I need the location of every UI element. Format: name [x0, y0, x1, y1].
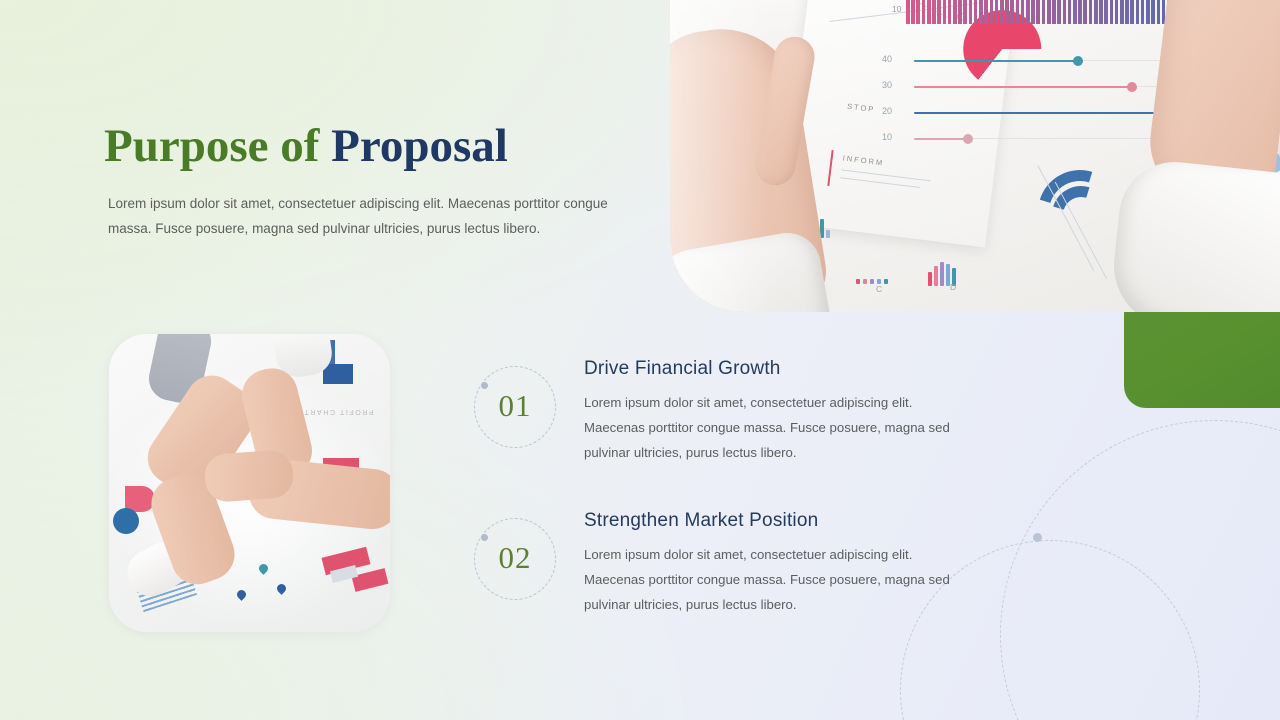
- blue-block-graphic-2: [323, 364, 353, 384]
- item-body: Lorem ipsum dolor sit amet, consectetuer…: [584, 390, 956, 465]
- decorative-dot: [1033, 533, 1042, 542]
- analytics-photo: STOP INFORM 60 50 40 30 10 40302010 B C …: [670, 0, 1280, 312]
- intro-paragraph: Lorem ipsum dolor sit amet, consectetuer…: [108, 192, 608, 241]
- lollipop-tick: 10: [882, 132, 892, 142]
- hands-center-cluster: [203, 449, 294, 503]
- team-photo: PROFIT CHART: [109, 334, 390, 632]
- lollipop-tick: 30: [882, 80, 892, 90]
- paper-label-stop: STOP: [847, 102, 876, 114]
- profit-chart-label: PROFIT CHART: [303, 408, 374, 415]
- item-body: Lorem ipsum dolor sit amet, consectetuer…: [584, 542, 956, 617]
- item-heading: Strengthen Market Position: [584, 510, 818, 532]
- item-number: 01: [474, 366, 556, 448]
- number-badge: 01: [474, 366, 556, 448]
- lollipop-tick: 40: [882, 54, 892, 64]
- item-number: 02: [474, 518, 556, 600]
- page-title-navy: Proposal: [331, 120, 508, 172]
- paper-label-inform: INFORM: [842, 153, 884, 167]
- lollipop-tick: 20: [882, 106, 892, 116]
- number-badge: 02: [474, 518, 556, 600]
- sleeve-cuff-right: [1108, 157, 1280, 312]
- category-label-c: C: [876, 284, 882, 294]
- blue-circle-graphic: [113, 508, 139, 534]
- mini-bars-b: [856, 274, 888, 284]
- page-title-green: Purpose of: [104, 120, 331, 172]
- category-label-d: D: [950, 282, 956, 292]
- page-title: Purpose of Proposal: [104, 122, 508, 171]
- item-heading: Drive Financial Growth: [584, 358, 781, 380]
- barstrip-tick-label: 10: [892, 4, 901, 14]
